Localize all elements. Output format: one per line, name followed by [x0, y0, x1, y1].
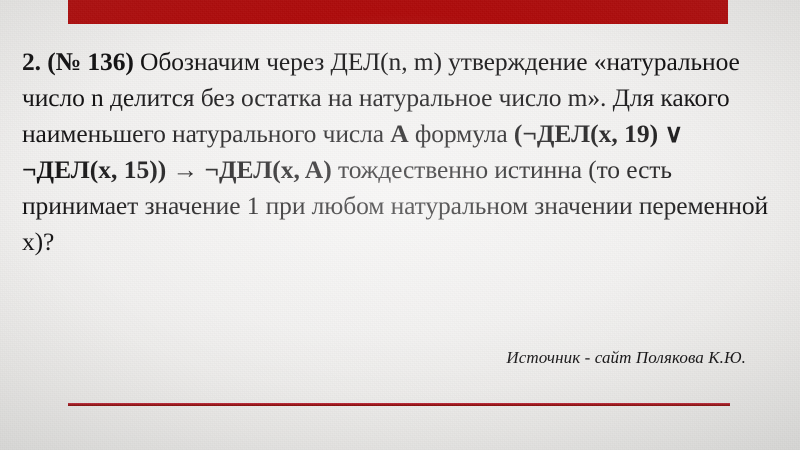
- slide: 2. (№ 136) Обозначим через ДЕЛ(n, m) утв…: [0, 0, 800, 450]
- slide-body-text: 2. (№ 136) Обозначим через ДЕЛ(n, m) утв…: [22, 44, 774, 260]
- formula-lead-text: формула: [409, 119, 514, 148]
- variable-a-label: А: [390, 119, 408, 148]
- bottom-accent-rule: [68, 403, 730, 406]
- source-attribution: Источник - сайт Полякова К.Ю.: [22, 348, 774, 368]
- task-number: 2. (№ 136): [22, 47, 134, 76]
- top-accent-bar: [68, 0, 728, 24]
